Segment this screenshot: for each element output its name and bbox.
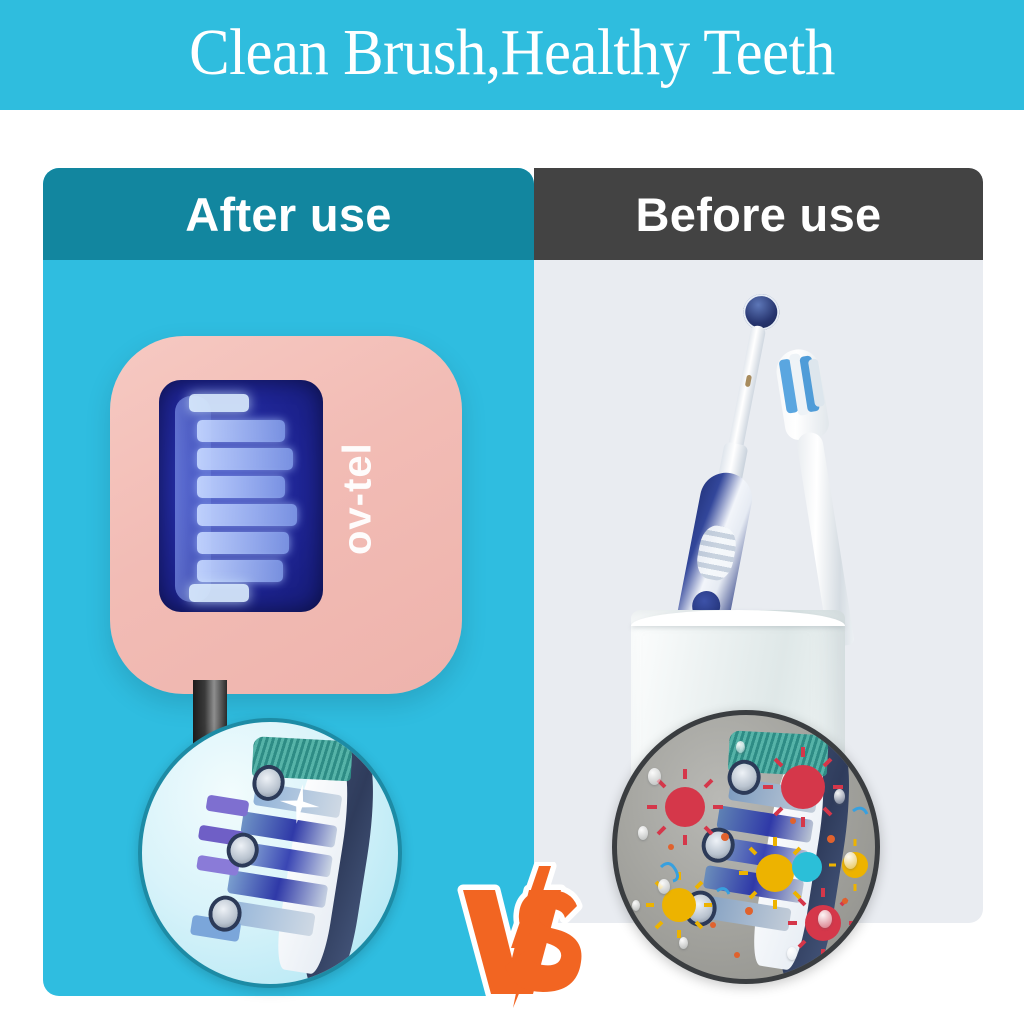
uv-bristle-row — [197, 420, 285, 442]
water-droplet — [736, 741, 745, 753]
water-droplet — [834, 789, 845, 804]
panel-before-use-label: Before use — [636, 187, 882, 242]
clean-brush-inset — [138, 718, 402, 988]
manual-toothbrush — [765, 345, 871, 651]
uv-sanitizer-device: ov-tel — [110, 336, 462, 694]
dirty-brush-inset — [612, 710, 880, 984]
panel-after-use-header: After use — [43, 168, 534, 260]
uv-bristle-row — [197, 504, 297, 526]
uv-bristle-row — [197, 448, 293, 470]
uv-light-window — [159, 380, 323, 612]
manual-brush-head — [773, 346, 831, 442]
clean-brush-closeup — [170, 719, 396, 988]
uv-bristle-row — [197, 532, 289, 554]
water-droplet — [658, 879, 670, 894]
brand-logo-text: ov-tel — [338, 394, 378, 604]
electric-brush-neck — [727, 324, 766, 453]
uv-bristle-tip — [189, 584, 249, 602]
virus-particle — [763, 747, 843, 827]
water-droplet — [648, 768, 661, 785]
bacteria-particle — [646, 872, 712, 938]
electric-toothbrush — [663, 288, 800, 655]
brush-side-tuft — [206, 796, 250, 817]
water-droplet — [679, 937, 688, 949]
water-droplet — [638, 826, 648, 840]
germ-particle — [792, 852, 822, 882]
page-banner: Clean Brush,Healthy Teeth — [0, 0, 1024, 110]
panel-before-use-header: Before use — [534, 168, 983, 260]
uv-bristle-row — [197, 560, 283, 582]
cup-rim — [631, 610, 845, 626]
uv-bristle-row — [197, 476, 285, 498]
panel-after-use-label: After use — [185, 187, 391, 242]
comparison-stage: After use ov-tel Before use — [0, 110, 1024, 990]
page-title: Clean Brush,Healthy Teeth — [189, 20, 835, 90]
uv-bristle-tip — [189, 394, 249, 412]
germ-overlay — [617, 715, 875, 979]
